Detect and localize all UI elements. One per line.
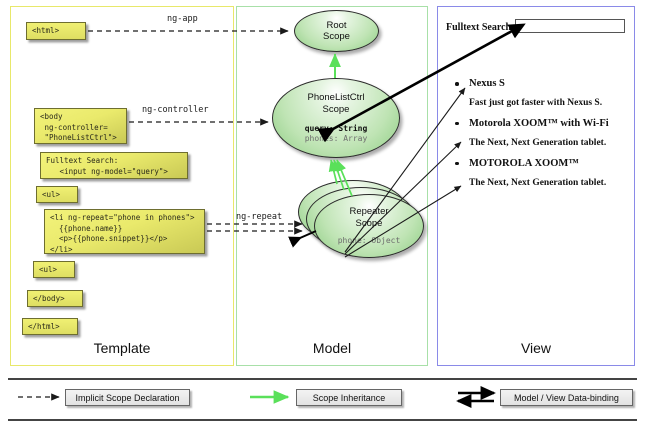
legend-bottom-rule	[8, 419, 637, 421]
edge-label-ng-controller: ng-controller	[142, 105, 209, 115]
view-phone-list: Nexus S Fast just got faster with Nexus …	[451, 78, 629, 198]
code-box-ul-close-tag: <ul>	[33, 261, 75, 278]
diagram-canvas: Template Model View <html> <body ng-cont…	[0, 0, 645, 425]
scope-ellipse-repeater: Repeater Scope phone: Object	[314, 194, 424, 258]
legend-item-scope-inheritance: Scope Inheritance	[296, 389, 402, 406]
view-fulltext-search-label: Fulltext Search:	[446, 22, 514, 33]
list-item: Nexus S Fast just got faster with Nexus …	[451, 78, 629, 109]
phonelistctrl-prop-query: query: String	[305, 124, 368, 134]
bullet-icon	[455, 162, 459, 166]
root-scope-title: Root Scope	[323, 20, 350, 42]
phonelistctrl-prop-phones: phones: Array	[305, 134, 368, 144]
legend-item-implicit-scope-declaration: Implicit Scope Declaration	[65, 389, 190, 406]
edge-label-ng-app: ng-app	[167, 14, 198, 24]
repeater-scope-title: Repeater Scope	[349, 206, 388, 228]
scope-ellipse-root: Root Scope	[294, 10, 379, 52]
phone-snippet: Fast just got faster with Nexus S.	[469, 98, 629, 109]
legend-item-data-binding: Model / View Data-binding	[500, 389, 633, 406]
legend-top-rule	[8, 378, 637, 380]
code-box-li-ng-repeat: <li ng-repeat="phone in phones"> {{phone…	[44, 209, 205, 254]
model-column-label: Model	[237, 331, 427, 365]
phone-name: MOTOROLA XOOM™	[469, 158, 629, 171]
code-box-ul-open-tag: <ul>	[36, 186, 78, 203]
list-item: MOTOROLA XOOM™ The Next, Next Generation…	[451, 158, 629, 189]
phonelistctrl-scope-title: PhoneListCtrl Scope	[307, 92, 364, 114]
repeater-prop-phone: phone: Object	[338, 236, 401, 246]
template-column-label: Template	[11, 331, 233, 365]
phone-name: Motorola XOOM™ with Wi-Fi	[469, 118, 629, 131]
code-box-body-tag: <body ng-controller= "PhoneListCtrl">	[34, 108, 127, 144]
code-box-html-open-tag: <html>	[26, 22, 86, 40]
list-item: Motorola XOOM™ with Wi-Fi The Next, Next…	[451, 118, 629, 149]
phone-snippet: The Next, Next Generation tablet.	[469, 138, 629, 149]
code-box-body-close-tag: </body>	[27, 290, 83, 307]
view-pane: Fulltext Search: Nexus S Fast just got f…	[437, 6, 635, 391]
code-box-fulltext-search-markup: Fulltext Search: <input ng-model="query"…	[40, 152, 188, 179]
bullet-icon	[455, 82, 459, 86]
edge-label-ng-repeat: ng-repeat	[236, 212, 282, 222]
view-fulltext-search-input[interactable]	[515, 19, 625, 33]
code-box-html-close-tag: </html>	[22, 318, 78, 335]
scope-ellipse-phonelistctrl: PhoneListCtrl Scope query: String phones…	[272, 78, 400, 158]
phone-name: Nexus S	[469, 78, 629, 91]
phone-snippet: The Next, Next Generation tablet.	[469, 178, 629, 189]
bullet-icon	[455, 122, 459, 126]
